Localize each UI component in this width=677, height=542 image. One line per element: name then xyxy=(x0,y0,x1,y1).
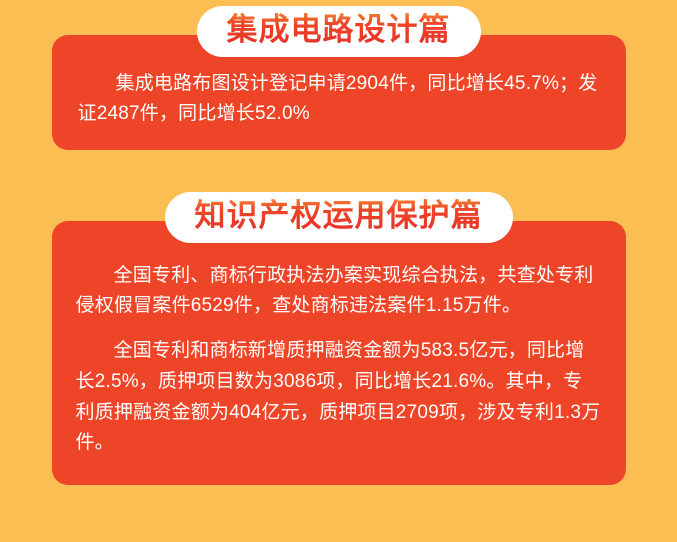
section-integrated-circuit-design: 集成电路设计篇 集成电路布图设计登记申请2904件，同比增长45.7%；发证24… xyxy=(0,6,677,150)
paragraph-2-2: 全国专利和商标新增质押融资金额为583.5亿元，同比增长2.5%，质押项目数为3… xyxy=(76,336,602,459)
title-badge-2: 知识产权运用保护篇 xyxy=(165,192,513,243)
content-card-2: 全国专利、商标行政执法办案实现综合执法，共查处专利侵权假冒案件6529件，查处商… xyxy=(52,221,626,486)
title-badge-wrapper-1: 集成电路设计篇 xyxy=(0,6,677,57)
paragraph-1-1: 集成电路布图设计登记申请2904件，同比增长45.7%；发证2487件，同比增长… xyxy=(78,69,600,131)
paragraph-2-1: 全国专利、商标行政执法办案实现综合执法，共查处专利侵权假冒案件6529件，查处商… xyxy=(76,261,602,323)
infographic-page: 集成电路设计篇 集成电路布图设计登记申请2904件，同比增长45.7%；发证24… xyxy=(0,0,677,542)
section-ip-utilization-protection: 知识产权运用保护篇 全国专利、商标行政执法办案实现综合执法，共查处专利侵权假冒案… xyxy=(0,192,677,485)
section-title-1: 集成电路设计篇 xyxy=(227,12,451,49)
title-badge-wrapper-2: 知识产权运用保护篇 xyxy=(0,192,677,243)
content-card-2-inner: 全国专利、商标行政执法办案实现综合执法，共查处专利侵权假冒案件6529件，查处商… xyxy=(52,221,626,486)
section-title-2: 知识产权运用保护篇 xyxy=(195,198,483,235)
title-badge-1: 集成电路设计篇 xyxy=(197,6,481,57)
